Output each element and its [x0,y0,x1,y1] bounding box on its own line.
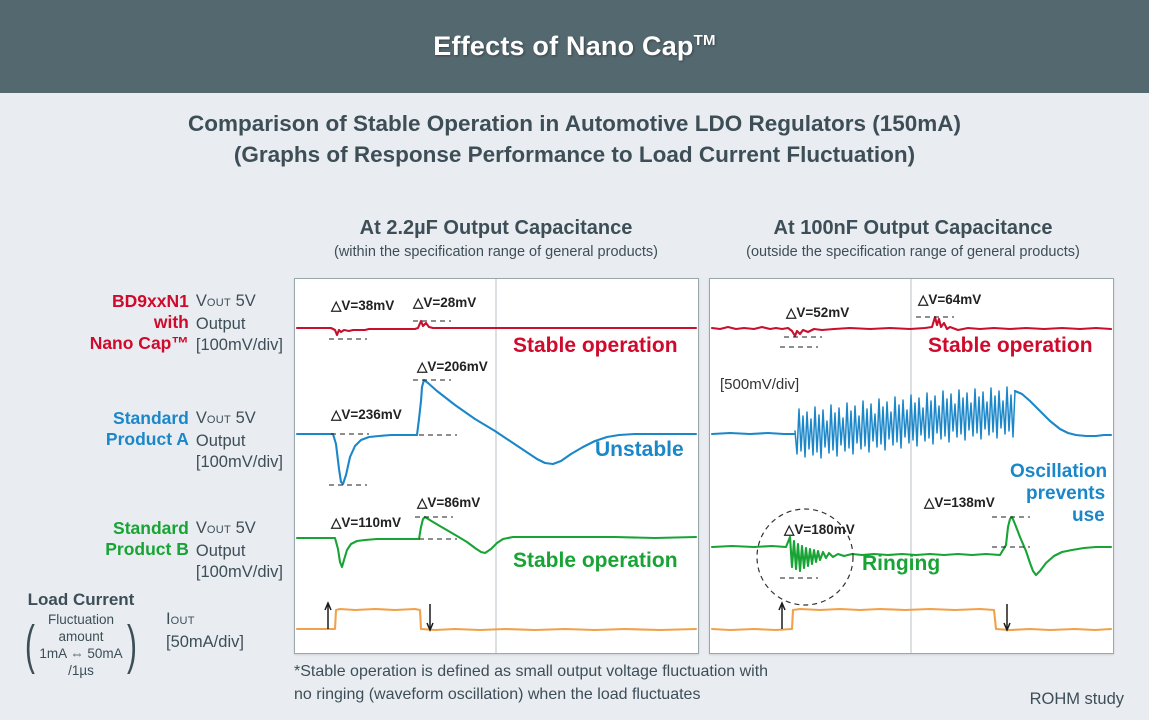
legend-load-detail-l3: 1mA ⇔ 50mA [39,645,122,662]
label-dv-blue-2-left: △V=206mV [416,359,488,374]
legend-name-product-a-l1: Standard [43,408,189,429]
legend-row-product-a: Standard Product A VOUT 5V Output [100mV… [0,408,283,473]
legend-name-nanocap-l1: BD9xxN1 [43,291,189,312]
scope-traces-left: △V=38mV △V=28mV Stable operation △V=236m… [295,279,698,653]
column-heading-left-main: At 2.2µF Output Capacitance [290,215,702,242]
verdict-green-left: Stable operation [513,549,678,572]
legend-unit-product-a: VOUT 5V Output [100mV/div] [196,408,283,473]
legend-name-nanocap-l3: Nano Cap™ [43,333,189,354]
legend-unit-product-b-l3: [100mV/div] [196,562,283,583]
legend-name-product-a-l2: Product A [43,429,189,450]
vout-suffix: 5V [231,409,256,427]
legend-load-detail-l4: /1µs [39,662,122,679]
verdict-blue-right-l1: Oscillation [1010,461,1107,482]
page-title-text: Effects of Nano Cap [433,31,693,61]
legend-unit-nanocap: VOUT 5V Output [100mV/div] [196,291,283,356]
label-dv-red-1-left: △V=38mV [330,298,394,313]
verdict-blue-right-l3: use [1072,505,1105,526]
legend-unit-product-a-l2: Output [196,431,283,452]
legend-load-paren-group: ( Fluctuation amount 1mA ⇔ 50mA /1µs ) [0,611,162,679]
column-heading-right: At 100nF Output Capacitance (outside the… [703,215,1123,263]
legend-unit-product-b-l1: VOUT 5V [196,518,283,541]
legend-load-title: Load Current [0,590,162,610]
scope-panel-left[interactable]: △V=38mV △V=28mV Stable operation △V=236m… [294,278,699,654]
column-heading-right-sub: (outside the specification range of gene… [703,242,1123,263]
label-scale-blue-right: [500mV/div] [720,376,799,393]
legend-load-detail: Fluctuation amount 1mA ⇔ 50mA /1µs [39,611,122,679]
label-dv-blue-1-left: △V=236mV [330,407,402,422]
legend-unit-product-a-l3: [100mV/div] [196,452,283,473]
vout-suffix: 5V [231,292,256,310]
legend-unit-load-current: IOUT [50mA/div] [166,590,244,653]
vout-subscript: OUT [207,524,231,536]
vout-prefix: V [196,409,207,427]
label-dv-red-1-right: △V=52mV [785,305,849,320]
legend-unit-product-a-l1: VOUT 5V [196,408,283,431]
legend-name-product-a: Standard Product A [43,408,189,450]
legend-name-product-b-l2: Product B [43,539,189,560]
legend-name-product-b-l1: Standard [43,518,189,539]
legend-name-nanocap: BD9xxN1 with Nano Cap™ [43,291,189,354]
legend-unit-load-l1: IOUT [166,609,244,632]
vout-suffix: 5V [231,519,256,537]
subtitle-line-1: Comparison of Stable Operation in Automo… [0,108,1149,139]
legend-unit-load-l2: [50mA/div] [166,632,244,653]
label-dv-red-2-right: △V=64mV [917,292,981,307]
verdict-red-right: Stable operation [928,334,1093,357]
vout-subscript: OUT [207,297,231,309]
label-dv-green-2-right: △V=138mV [923,495,995,510]
legend-name-nanocap-l2: with [43,312,189,333]
legend-unit-nanocap-l3: [100mV/div] [196,335,283,356]
legend-row-nanocap: BD9xxN1 with Nano Cap™ VOUT 5V Output [1… [0,291,283,356]
subtitle-line-2: (Graphs of Response Performance to Load … [0,139,1149,170]
label-dv-green-1-left: △V=110mV [330,515,401,530]
verdict-green-right: Ringing [862,552,940,575]
slide-root: Effects of Nano CapTM Comparison of Stab… [0,0,1149,720]
legend-load-left: Load Current ( Fluctuation amount 1mA ⇔ … [0,590,162,679]
study-credit: ROHM study [0,690,1124,709]
verdict-blue-right-l2: prevents [1026,483,1105,504]
column-heading-left-sub: (within the specification range of gener… [290,242,702,263]
legend-unit-nanocap-l2: Output [196,314,283,335]
row-legend: BD9xxN1 with Nano Cap™ VOUT 5V Output [1… [0,278,290,656]
column-heading-right-main: At 100nF Output Capacitance [703,215,1123,242]
trace-product-a-baseline-right [712,433,794,434]
legend-unit-nanocap-l1: VOUT 5V [196,291,283,314]
legend-unit-product-b-l2: Output [196,541,283,562]
column-heading-left: At 2.2µF Output Capacitance (within the … [290,215,702,263]
label-dv-green-1-right: △V=180mV [783,522,855,537]
right-parenthesis-glyph: ) [127,625,137,665]
vout-prefix: V [196,519,207,537]
footnote-line-1: *Stable operation is defined as small ou… [294,660,914,683]
label-dv-red-2-left: △V=28mV [412,295,476,310]
legend-row-load-current: Load Current ( Fluctuation amount 1mA ⇔ … [0,590,283,679]
scope-panel-right[interactable]: △V=52mV △V=64mV Stable operation [500mV/… [709,278,1114,654]
subtitle: Comparison of Stable Operation in Automo… [0,108,1149,170]
label-dv-green-2-left: △V=86mV [416,495,480,510]
trace-product-a-oscillation-right [795,387,1015,458]
left-parenthesis-glyph: ( [25,625,35,665]
legend-unit-product-b: VOUT 5V Output [100mV/div] [196,518,283,583]
verdict-blue-left: Unstable [595,438,684,461]
legend-load-detail-l1: Fluctuation [39,611,122,628]
iout-subscript: OUT [171,615,195,627]
verdict-red-left: Stable operation [513,334,678,357]
trademark-symbol: TM [694,32,716,49]
vout-subscript: OUT [207,414,231,426]
page-title: Effects of Nano CapTM [433,31,715,62]
vout-prefix: V [196,292,207,310]
legend-row-product-b: Standard Product B VOUT 5V Output [100mV… [0,518,283,583]
trace-product-a-decay-right [1015,391,1111,436]
scope-traces-right: △V=52mV △V=64mV Stable operation [500mV/… [710,279,1113,653]
legend-load-detail-l2: amount [39,628,122,645]
header-bar: Effects of Nano CapTM [0,0,1149,93]
legend-name-product-b: Standard Product B [43,518,189,560]
